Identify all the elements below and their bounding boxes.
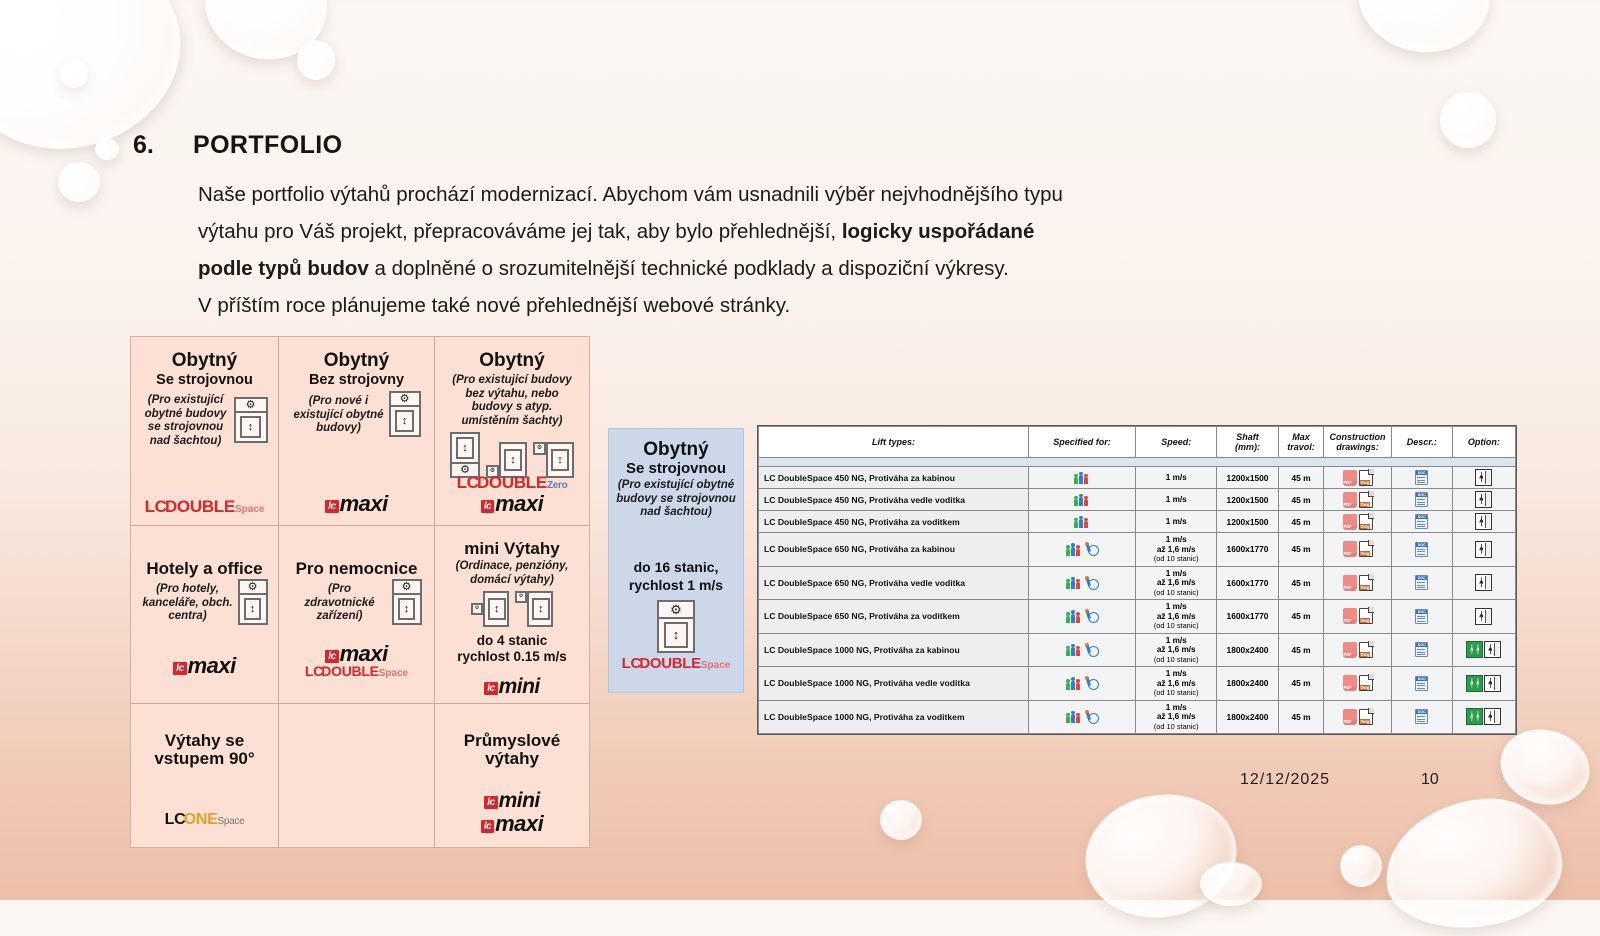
people-icon — [1074, 471, 1090, 484]
cell-specified-for — [1028, 633, 1135, 667]
table-row[interactable]: LC DoubleSpace 1000 NG, Protiváha za kab… — [759, 633, 1516, 667]
wheelchair-icon — [1085, 710, 1098, 724]
cell-shaft: 1600x1770 — [1217, 533, 1278, 567]
cell-construction-drawings[interactable]: PDFDwg — [1324, 511, 1391, 533]
cell-lift-type: LC DoubleSpace 1000 NG, Protiváha za kab… — [759, 633, 1029, 667]
logo-lc-doublespace: LCDOUBLESpace — [305, 663, 408, 679]
intro-paragraph: Naše portfolio výtahů prochází moderniza… — [198, 176, 1258, 324]
cell-max-travel: 45 m — [1278, 467, 1324, 489]
cell-lift-type: LC DoubleSpace 650 NG, Protiváha za vodi… — [759, 600, 1029, 634]
cell-option — [1452, 467, 1515, 489]
matrix-cell-spec-line-1: do 4 stanic — [440, 633, 584, 649]
logo-lc-onespace: LCONESpace — [165, 811, 245, 829]
dwg-icon[interactable]: Dwg — [1359, 709, 1373, 725]
cell-speed: 1 m/s — [1135, 467, 1217, 489]
cell-option — [1452, 489, 1515, 511]
water-drop-icon — [1076, 783, 1247, 930]
cell-lift-type: LC DoubleSpace 450 NG, Protiváha za vodi… — [759, 511, 1029, 533]
matrix-cell-title-line-2: vstupem 90° — [136, 750, 273, 767]
cell-option — [1452, 533, 1515, 567]
cell-speed: 1 m/saž 1,6 m/s(od 10 stanic) — [1135, 566, 1217, 600]
water-drop-icon — [1340, 845, 1382, 887]
doc-icon[interactable]: DOC — [1415, 676, 1428, 691]
table-row[interactable]: LC DoubleSpace 650 NG, Protiváha vedle v… — [759, 566, 1516, 600]
cell-construction-drawings[interactable]: PDFDwg — [1324, 489, 1391, 511]
table-row[interactable]: LC DoubleSpace 650 NG, Protiváha za kabi… — [759, 533, 1516, 567]
callout-obytny-se-strojovnou[interactable]: Obytný Se strojovnou (Pro existující oby… — [608, 428, 744, 693]
cell-lift-type: LC DoubleSpace 650 NG, Protiváha vedle v… — [759, 566, 1029, 600]
slide-heading: 6.PORTFOLIO — [133, 131, 1253, 160]
stretcher-green-icon — [1466, 708, 1483, 725]
table-row[interactable]: LC DoubleSpace 650 NG, Protiváha za vodi… — [759, 600, 1516, 634]
pdf-icon[interactable]: PDF — [1343, 514, 1357, 530]
matrix-cell-title-line-1: Průmyslové — [440, 732, 584, 749]
matrix-cell-note: (Pro existující obytné budovy se strojov… — [142, 394, 230, 448]
cell-descr[interactable]: DOC — [1391, 600, 1452, 634]
people-icon — [1066, 710, 1082, 723]
cell-speed: 1 m/saž 1,6 m/s(od 10 stanic) — [1135, 533, 1217, 567]
paragraph-line-1: Naše portfolio výtahů prochází moderniza… — [198, 176, 1258, 213]
cell-specified-for — [1028, 700, 1135, 734]
matrix-cell-logos: lcmini — [435, 675, 589, 699]
people-icon — [1066, 643, 1082, 656]
lift-person-icon — [1475, 608, 1492, 625]
lift-person-icon — [1475, 541, 1492, 558]
water-drop-icon — [1379, 791, 1568, 936]
cell-construction-drawings[interactable]: PDFDwg — [1324, 667, 1391, 701]
people-icon — [1066, 576, 1082, 589]
cell-max-travel: 45 m — [1278, 566, 1324, 600]
lift-person-icon — [1484, 641, 1501, 658]
lift-machine-room-top-icon: ⚙ ↕ — [657, 600, 695, 653]
cell-option — [1452, 633, 1515, 667]
cell-shaft: 1200x1500 — [1217, 511, 1278, 533]
wheelchair-icon — [1085, 676, 1098, 690]
lift-person-icon — [1475, 469, 1492, 486]
doc-icon[interactable]: DOC — [1415, 470, 1428, 485]
matrix-cell-title: Hotely a office — [136, 560, 273, 577]
column-header-option: Option: — [1452, 427, 1515, 458]
matrix-cell-prumyslove-vytahy[interactable]: Průmyslové výtahy lcmini lcmaxi — [435, 704, 589, 847]
matrix-cell-obytny-se-strojovnou[interactable]: Obytný Se strojovnou (Pro existující oby… — [131, 337, 279, 526]
dwg-icon[interactable]: Dwg — [1359, 541, 1373, 557]
wheelchair-icon — [1085, 576, 1098, 590]
cell-option — [1452, 700, 1515, 734]
dwg-icon[interactable]: Dwg — [1359, 608, 1373, 624]
pdf-icon[interactable]: PDF — [1343, 675, 1357, 691]
logo-lc-maxi: lcmaxi — [325, 491, 388, 517]
doc-icon[interactable]: DOC — [1415, 542, 1428, 557]
dwg-icon[interactable]: Dwg — [1359, 492, 1373, 508]
cell-descr[interactable]: DOC — [1391, 489, 1452, 511]
paragraph-line-2-text: výtahu pro Váš projekt, přepracováváme j… — [198, 220, 842, 243]
matrix-cell-mini-vytahy[interactable]: mini Výtahy (Ordinace, penzióny, domácí … — [435, 526, 589, 704]
lift-person-icon — [1475, 574, 1492, 591]
column-header-shaft-line-1: Shaft — [1220, 432, 1274, 442]
cell-construction-drawings[interactable]: PDFDwg — [1324, 533, 1391, 567]
logo-lc-maxi: lcmaxi — [481, 811, 544, 837]
cell-speed: 1 m/s — [1135, 489, 1217, 511]
matrix-cell-empty — [279, 704, 435, 847]
callout-spec-line-1: do 16 stanic, — [615, 558, 737, 576]
callout-spec-line-2: rychlost 1 m/s — [615, 576, 737, 594]
cell-speed: 1 m/saž 1,6 m/s(od 10 stanic) — [1135, 700, 1217, 734]
table-row[interactable]: LC DoubleSpace 1000 NG, Protiváha za vod… — [759, 700, 1516, 734]
matrix-cell-logos: LCONESpace — [131, 811, 278, 829]
column-header-constr-line-2: drawings: — [1327, 442, 1387, 452]
cell-descr[interactable]: DOC — [1391, 633, 1452, 667]
dwg-icon[interactable]: Dwg — [1359, 575, 1373, 591]
lift-mini-a-icon: ⚙ ↕ — [471, 591, 509, 627]
cell-shaft: 1800x2400 — [1217, 633, 1278, 667]
water-drop-icon — [1200, 862, 1262, 906]
lift-machine-roomless-icon: ⚙ ↕ — [238, 579, 268, 625]
paragraph-line-2: výtahu pro Váš projekt, přepracováváme j… — [198, 213, 1258, 250]
dwg-icon[interactable]: Dwg — [1359, 675, 1373, 691]
cell-shaft: 1600x1770 — [1217, 600, 1278, 634]
lift-machine-roomless-icon: ⚙ ↕ — [392, 579, 422, 625]
lift-machine-room-top-icon: ⚙ ↕ — [234, 397, 268, 443]
cell-option — [1452, 511, 1515, 533]
cell-construction-drawings[interactable]: PDFDwg — [1324, 600, 1391, 634]
table-header-row: Lift types: Specified for: Speed: Shaft … — [759, 427, 1516, 458]
cell-option — [1452, 667, 1515, 701]
water-drop-icon — [297, 40, 335, 80]
matrix-cell-logos: LCDOUBLEZero lcmaxi — [435, 473, 589, 517]
matrix-cell-note: (Pro nové i existující obytné budovy) — [293, 395, 385, 436]
callout-subtitle: Se strojovnou — [615, 460, 737, 477]
matrix-cell-title: Pro nemocnice — [284, 560, 429, 577]
table-row[interactable]: LC DoubleSpace 450 NG, Protiváha za kabi… — [759, 467, 1516, 489]
cell-specified-for — [1028, 467, 1135, 489]
pdf-icon[interactable]: PDF — [1343, 575, 1357, 591]
cell-speed: 1 m/s — [1135, 511, 1217, 533]
cell-max-travel: 45 m — [1278, 700, 1324, 734]
paragraph-line-3-text: a doplněné o srozumitelnější technické p… — [369, 257, 1009, 280]
cell-descr[interactable]: DOC — [1391, 667, 1452, 701]
pdf-icon[interactable]: PDF — [1343, 709, 1357, 725]
people-icon — [1074, 515, 1090, 528]
table-body: LC DoubleSpace 450 NG, Protiváha za kabi… — [759, 458, 1516, 734]
cell-shaft: 1800x2400 — [1217, 700, 1278, 734]
pdf-icon[interactable]: PDF — [1343, 541, 1357, 557]
wheelchair-icon — [1085, 542, 1098, 556]
callout-note: (Pro existující obytné budovy se strojov… — [615, 479, 737, 520]
logo-lc-doublezero: LCDOUBLEZero — [457, 473, 568, 493]
dwg-icon[interactable]: Dwg — [1359, 514, 1373, 530]
footer-page-number: 10 — [1421, 771, 1439, 789]
lift-mini-b-icon: ⚙ ↕ — [515, 591, 553, 627]
cell-shaft: 1200x1500 — [1217, 467, 1278, 489]
water-drop-icon — [58, 162, 100, 202]
cell-specified-for — [1028, 600, 1135, 634]
people-icon — [1066, 677, 1082, 690]
cell-construction-drawings[interactable]: PDFDwg — [1324, 633, 1391, 667]
people-icon — [1066, 610, 1082, 623]
logo-lc-doublespace: LCDOUBLESpace — [622, 655, 731, 672]
callout-title: Obytný — [615, 439, 737, 460]
cell-construction-drawings[interactable]: PDFDwg — [1324, 566, 1391, 600]
logo-lc-maxi: lcmaxi — [481, 491, 544, 517]
matrix-cell-logos: lcmini lcmaxi — [435, 789, 589, 837]
pdf-icon[interactable]: PDF — [1343, 608, 1357, 624]
cell-specified-for — [1028, 566, 1135, 600]
column-header-max-travel: Max travol: — [1278, 427, 1324, 458]
matrix-cell-title: Obytný — [440, 350, 584, 371]
cell-speed: 1 m/saž 1,6 m/s(od 10 stanic) — [1135, 667, 1217, 701]
water-drop-icon — [1440, 92, 1496, 148]
cell-shaft: 1800x2400 — [1217, 667, 1278, 701]
table-row[interactable]: LC DoubleSpace 450 NG, Protiváha vedle v… — [759, 489, 1516, 511]
water-drop-icon — [95, 138, 119, 160]
cell-max-travel: 45 m — [1278, 600, 1324, 634]
pdf-icon[interactable]: PDF — [1343, 470, 1357, 486]
water-drop-icon — [1351, 0, 1498, 61]
lift-person-icon — [1484, 708, 1501, 725]
cell-lift-type: LC DoubleSpace 450 NG, Protiváha vedle v… — [759, 489, 1029, 511]
cell-specified-for — [1028, 511, 1135, 533]
matrix-cell-hotely-a-office[interactable]: Hotely a office (Pro hotely, kanceláře, … — [131, 526, 279, 704]
dwg-icon[interactable]: Dwg — [1359, 642, 1373, 658]
lift-machine-roomless-icon: ⚙ ↕ — [389, 391, 421, 437]
matrix-cell-subtitle: Se strojovnou — [136, 372, 273, 389]
cell-option — [1452, 600, 1515, 634]
doc-icon[interactable]: DOC — [1415, 709, 1428, 724]
stretcher-green-icon — [1466, 675, 1483, 692]
column-header-travel-line-1: Max — [1282, 432, 1321, 442]
cell-max-travel: 45 m — [1278, 633, 1324, 667]
stretcher-green-icon — [1466, 641, 1483, 658]
cell-specified-for — [1028, 489, 1135, 511]
column-header-shaft: Shaft (mm): — [1217, 427, 1278, 458]
matrix-cell-title: mini Výtahy — [440, 540, 584, 557]
cell-max-travel: 45 m — [1278, 511, 1324, 533]
logo-lc-doublespace: LCDOUBLESpace — [145, 497, 265, 517]
matrix-cell-title: Obytný — [136, 350, 273, 371]
water-drop-icon — [195, 0, 337, 71]
column-header-descr: Descr.: — [1391, 427, 1452, 458]
dwg-icon[interactable]: Dwg — [1359, 470, 1373, 486]
section-number: 6. — [133, 131, 193, 160]
doc-icon[interactable]: DOC — [1415, 609, 1428, 624]
pdf-icon[interactable]: PDF — [1343, 492, 1357, 508]
cell-shaft: 1600x1770 — [1217, 566, 1278, 600]
matrix-cell-note: (Pro hotely, kanceláře, obch. centra) — [142, 583, 234, 624]
cell-descr[interactable]: DOC — [1391, 467, 1452, 489]
cell-max-travel: 45 m — [1278, 667, 1324, 701]
matrix-cell-note: (Pro zdravotnické zařízení) — [292, 583, 388, 624]
cell-lift-type: LC DoubleSpace 1000 NG, Protiváha vedle … — [759, 667, 1029, 701]
lift-person-icon — [1475, 491, 1492, 508]
cell-speed: 1 m/saž 1,6 m/s(od 10 stanic) — [1135, 600, 1217, 634]
people-icon — [1074, 493, 1090, 506]
paragraph-line-3-bold: podle typů budov — [198, 257, 369, 280]
cell-shaft: 1200x1500 — [1217, 489, 1278, 511]
matrix-cell-subtitle: Bez strojovny — [284, 372, 429, 389]
matrix-cell-obytny-bez-strojovny[interactable]: Obytný Bez strojovny (Pro nové i existuj… — [279, 337, 435, 526]
cell-descr[interactable]: DOC — [1391, 700, 1452, 734]
cell-descr[interactable]: DOC — [1391, 533, 1452, 567]
water-drop-icon — [60, 60, 88, 88]
lift-person-icon — [1484, 675, 1501, 692]
table-band-row — [759, 458, 1516, 467]
matrix-cell-title-line-2: výtahy — [440, 750, 584, 767]
matrix-cell-note: (Ordinace, penzióny, domácí výtahy) — [440, 560, 584, 587]
cell-lift-type: LC DoubleSpace 1000 NG, Protiváha za vod… — [759, 700, 1029, 734]
matrix-cell-title: Obytný — [284, 350, 429, 371]
pdf-icon[interactable]: PDF — [1343, 642, 1357, 658]
cell-descr[interactable]: DOC — [1391, 566, 1452, 600]
matrix-cell-pro-nemocnice[interactable]: Pro nemocnice (Pro zdravotnické zařízení… — [279, 526, 435, 704]
lift-person-icon — [1475, 513, 1492, 530]
matrix-cell-note: (Pro existující budovy bez výtahu, nebo … — [440, 374, 584, 428]
paragraph-line-3: podle typů budov a doplněné o srozumitel… — [198, 250, 1258, 287]
paragraph-line-4: V příštím roce plánujeme také nové přehl… — [198, 287, 1258, 324]
cell-specified-for — [1028, 533, 1135, 567]
column-header-travel-line-2: travol: — [1282, 442, 1321, 452]
people-icon — [1066, 543, 1082, 556]
cell-max-travel: 45 m — [1278, 489, 1324, 511]
matrix-cell-logos: lcmaxi — [131, 653, 278, 679]
cell-lift-type: LC DoubleSpace 450 NG, Protiváha za kabi… — [759, 467, 1029, 489]
wheelchair-icon — [1085, 643, 1098, 657]
cell-lift-type: LC DoubleSpace 650 NG, Protiváha za kabi… — [759, 533, 1029, 567]
paragraph-line-2-bold: logicky uspořádané — [842, 220, 1035, 243]
logo-lc-maxi: lcmaxi — [173, 653, 236, 679]
wheelchair-icon — [1085, 609, 1098, 623]
column-header-constr-line-1: Construction — [1327, 432, 1387, 442]
table-row[interactable]: LC DoubleSpace 1000 NG, Protiváha vedle … — [759, 667, 1516, 701]
lift-bottom-drive-icon: ↕ ⚙ — [450, 432, 480, 478]
column-header-shaft-line-2: (mm): — [1220, 442, 1274, 452]
column-header-construction-drawings: Construction drawings: — [1324, 427, 1391, 458]
cell-max-travel: 45 m — [1278, 533, 1324, 567]
matrix-cell-logos: lcmaxi — [279, 491, 434, 517]
page-title: PORTFOLIO — [193, 131, 342, 160]
doc-icon[interactable]: DOC — [1415, 642, 1428, 657]
matrix-cell-logos: LCDOUBLESpace — [131, 497, 278, 517]
matrix-cell-vytahy-vstup-90[interactable]: Výtahy se vstupem 90° LCONESpace — [131, 704, 279, 847]
cell-descr[interactable]: DOC — [1391, 511, 1452, 533]
footer-date: 12/12/2025 — [1240, 771, 1330, 789]
column-header-lift-types: Lift types: — [759, 427, 1029, 458]
matrix-cell-spec-line-2: rychlost 0.15 m/s — [440, 649, 584, 665]
logo-lc-mini: lcmini — [484, 789, 540, 813]
table-row[interactable]: LC DoubleSpace 450 NG, Protiváha za vodi… — [759, 511, 1516, 533]
logo-lc-mini: lcmini — [484, 675, 540, 699]
water-drop-icon — [880, 800, 922, 840]
doc-icon[interactable]: DOC — [1415, 514, 1428, 529]
doc-icon[interactable]: DOC — [1415, 492, 1428, 507]
cell-construction-drawings[interactable]: PDFDwg — [1324, 700, 1391, 734]
matrix-cell-title-line-1: Výtahy se — [136, 732, 273, 749]
column-header-specified-for: Specified for: — [1028, 427, 1135, 458]
portfolio-matrix: Obytný Se strojovnou (Pro existující oby… — [130, 336, 590, 848]
cell-construction-drawings[interactable]: PDFDwg — [1324, 467, 1391, 489]
column-header-speed: Speed: — [1135, 427, 1217, 458]
cell-speed: 1 m/saž 1,6 m/s(od 10 stanic) — [1135, 633, 1217, 667]
cell-option — [1452, 566, 1515, 600]
matrix-cell-logos: lcmaxi LCDOUBLESpace — [279, 641, 434, 681]
lift-types-table[interactable]: Lift types: Specified for: Speed: Shaft … — [757, 425, 1517, 735]
doc-icon[interactable]: DOC — [1415, 575, 1428, 590]
matrix-cell-obytny-atyp[interactable]: Obytný (Pro existující budovy bez výtahu… — [435, 337, 589, 526]
cell-specified-for — [1028, 667, 1135, 701]
